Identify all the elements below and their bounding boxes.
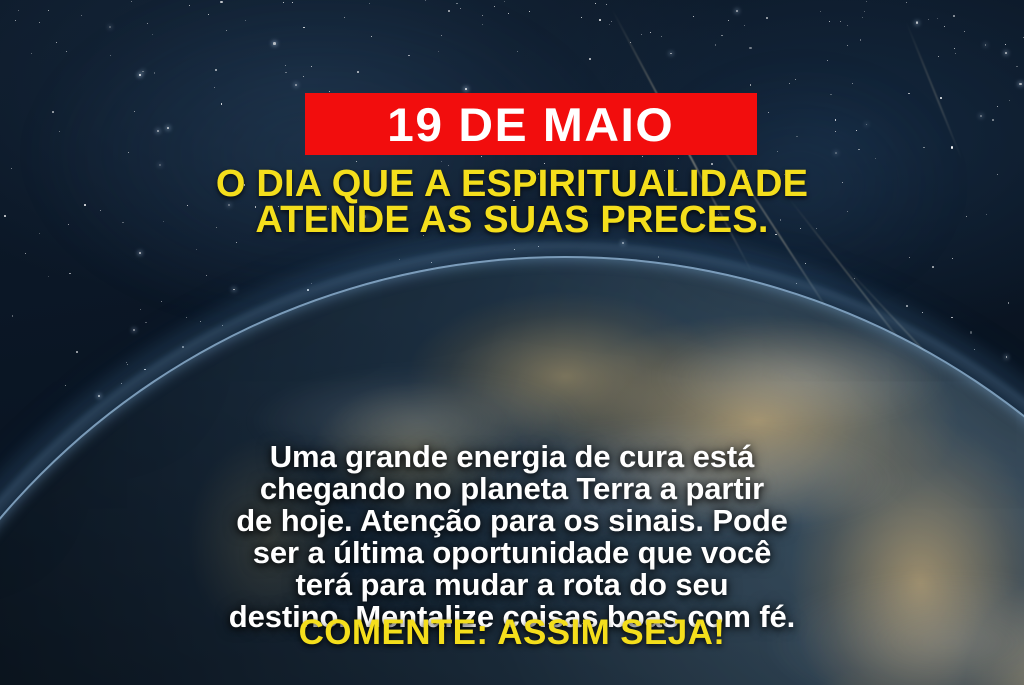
body-line-2: chegando no planeta Terra a partir bbox=[62, 473, 962, 505]
cta-label: COMENTE: ASSIM SEJA! bbox=[299, 613, 726, 652]
call-to-action: COMENTE: ASSIM SEJA! bbox=[0, 614, 1024, 652]
poster-content: 19 DE MAIO O DIA QUE A ESPIRITUALIDADE A… bbox=[0, 0, 1024, 685]
body-line-5: terá para mudar a rota do seu bbox=[62, 569, 962, 601]
date-banner: 19 DE MAIO bbox=[305, 93, 757, 155]
body-line-1: Uma grande energia de cura está bbox=[62, 441, 962, 473]
body-paragraph: Uma grande energia de cura está chegando… bbox=[62, 441, 962, 633]
body-line-4: ser a última oportunidade que você bbox=[62, 537, 962, 569]
date-banner-label: 19 DE MAIO bbox=[387, 101, 674, 148]
headline-line-1: O DIA QUE A ESPIRITUALIDADE bbox=[0, 166, 1024, 202]
body-line-3: de hoje. Atenção para os sinais. Pode bbox=[62, 505, 962, 537]
headline: O DIA QUE A ESPIRITUALIDADE ATENDE AS SU… bbox=[0, 166, 1024, 238]
poster-canvas: 19 DE MAIO O DIA QUE A ESPIRITUALIDADE A… bbox=[0, 0, 1024, 685]
headline-line-2: ATENDE AS SUAS PRECES. bbox=[0, 202, 1024, 238]
